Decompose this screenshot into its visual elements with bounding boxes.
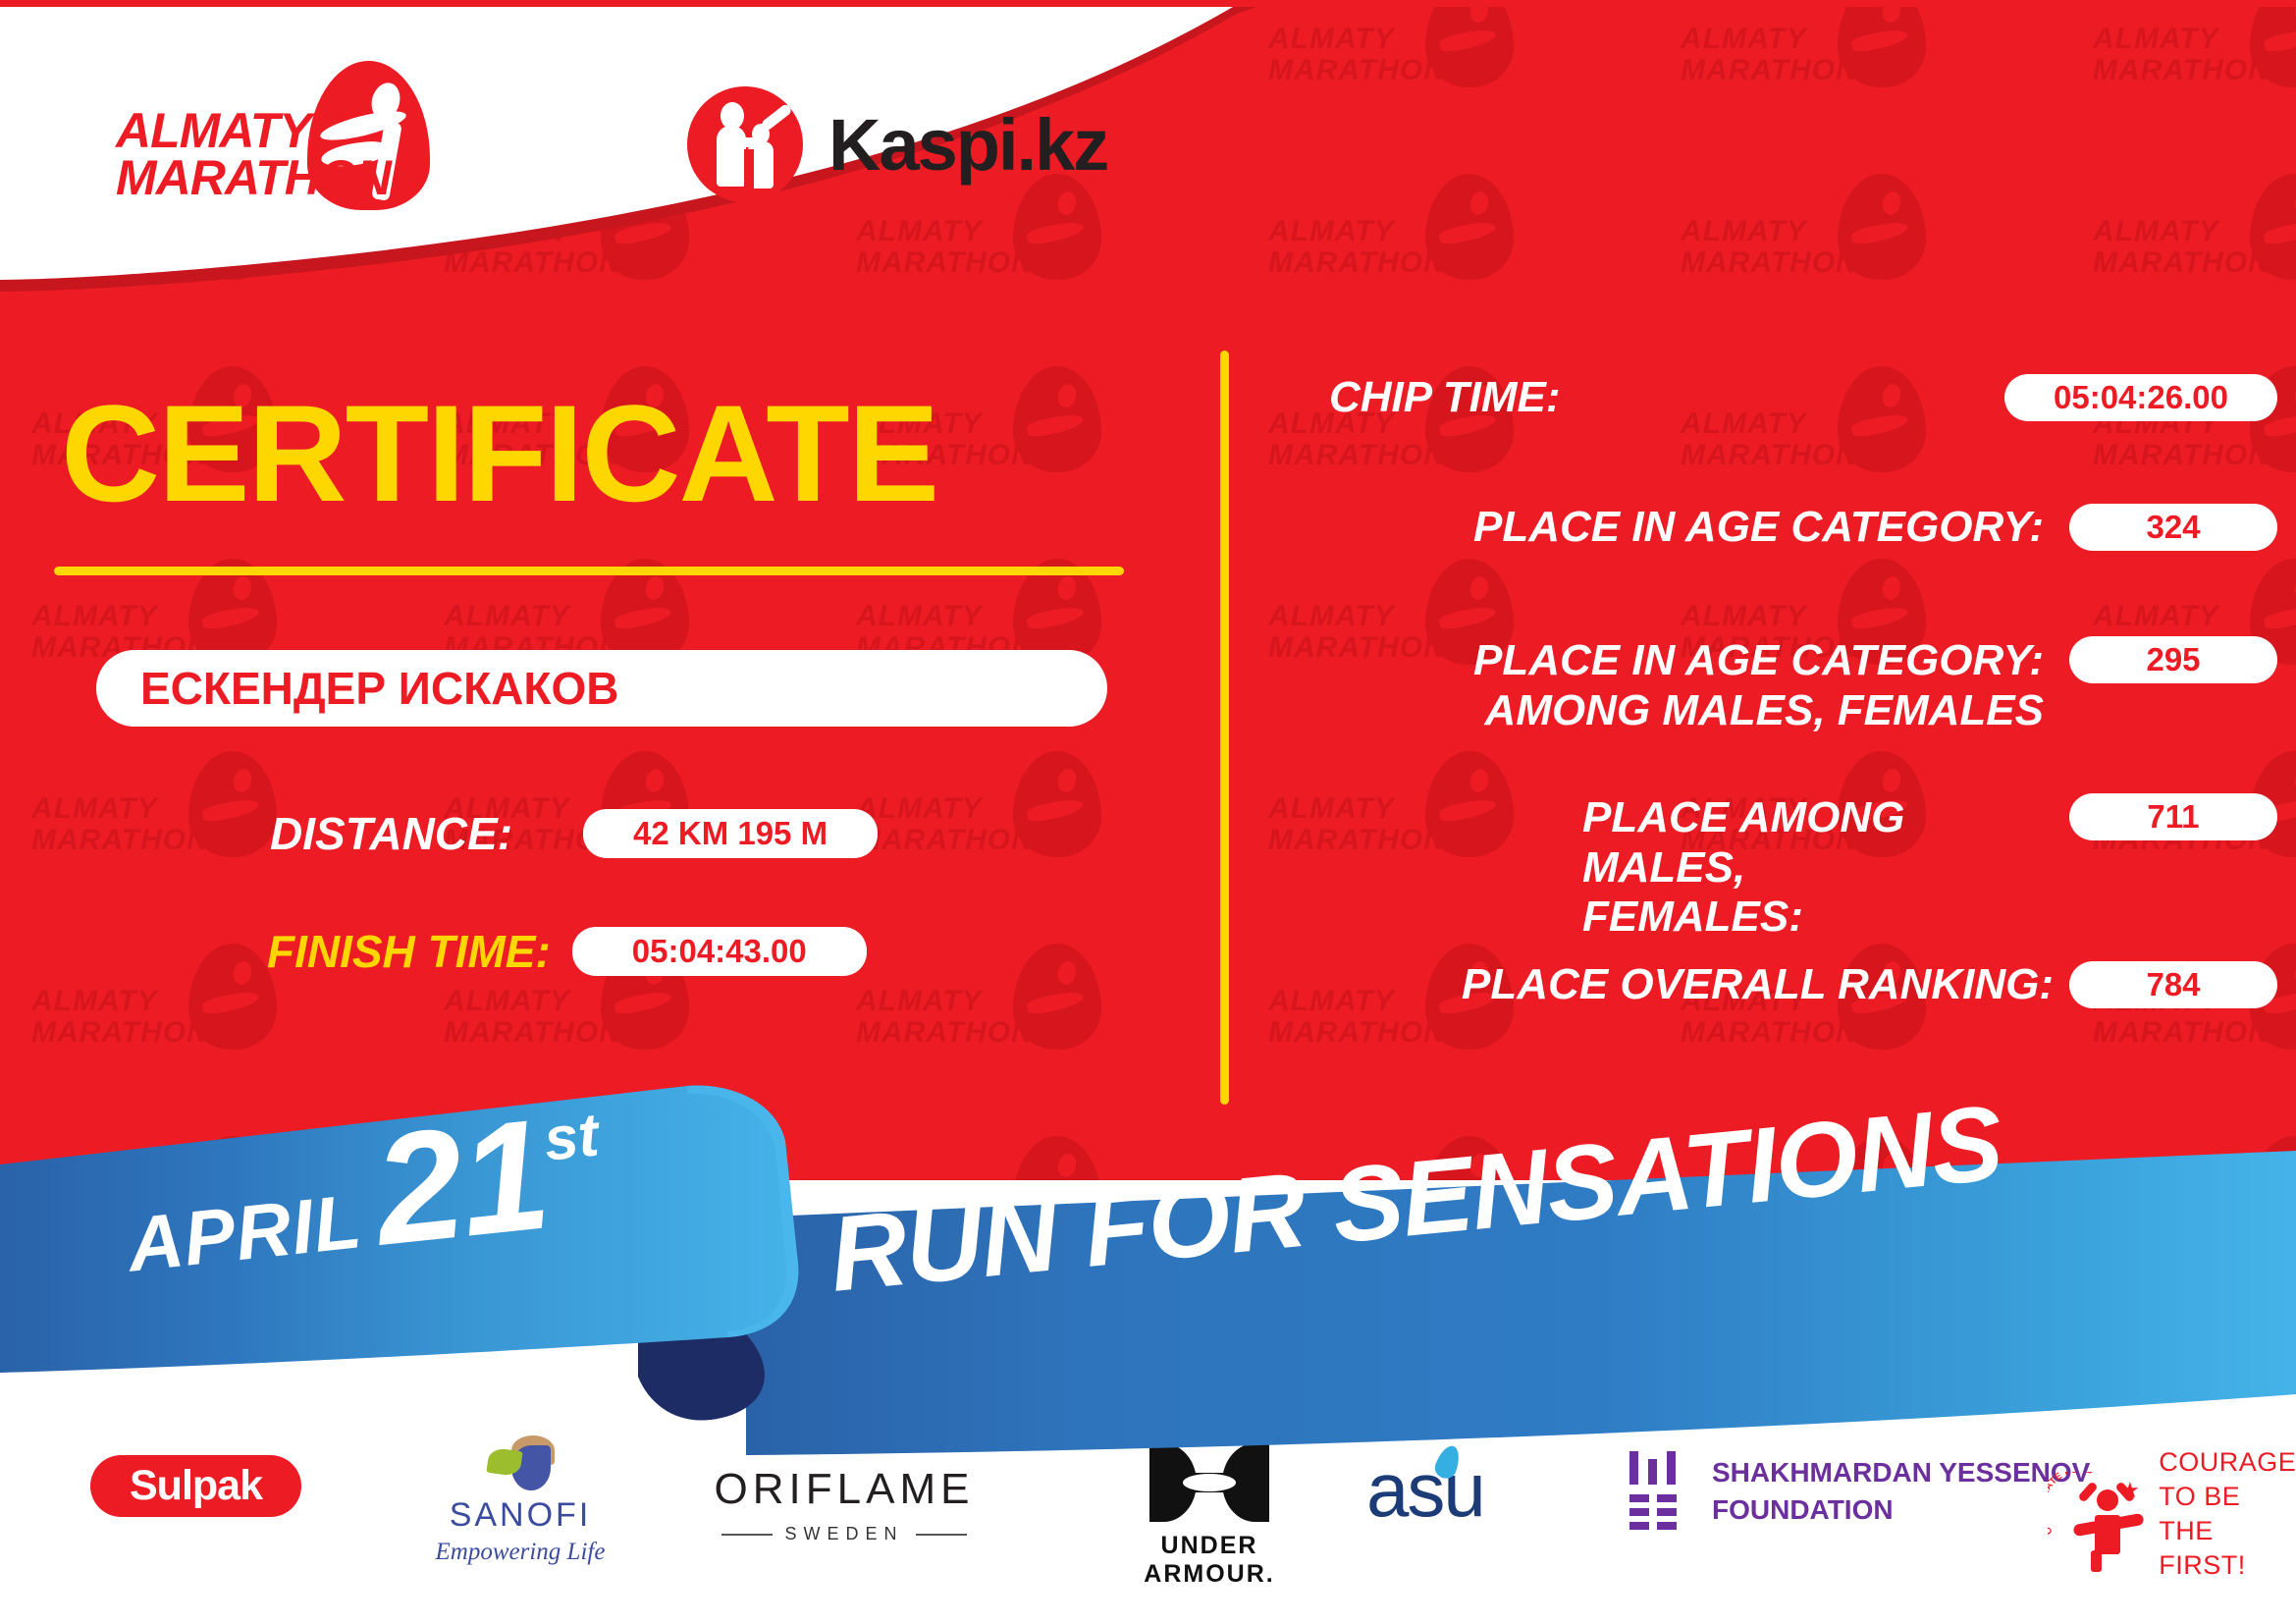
place-among-gender-label: PLACE AMONG MALES, FEMALES: (1582, 793, 2044, 943)
place-among-gender-value: 711 (2069, 793, 2277, 840)
certificate-page: ALMATYMARATHONALMATYMARATHONALMATYMARATH… (0, 0, 2296, 1624)
watermark-line1: ALMATY (2093, 215, 2219, 248)
watermark-line2: MARATHON (2093, 1016, 2270, 1050)
chip-time-value: 05:04:26.00 (2004, 374, 2277, 421)
place-age-category-label: PLACE IN AGE CATEGORY: (1473, 503, 2044, 553)
place-age-category-value: 324 (2069, 504, 2277, 551)
place-overall-row: PLACE OVERALL RANKING: 784 (1329, 960, 2277, 1010)
courage-line3: THE FIRST! (2159, 1514, 2296, 1583)
watermark-line1: ALMATY (856, 985, 983, 1018)
kaspi-wordmark: Kaspi.kz (828, 103, 1107, 187)
watermark-line1: ALMATY (444, 600, 570, 633)
participant-name-field: ЕСКЕНДЕР ИСКАКОВ (96, 650, 1107, 727)
watermark-drop-icon (1838, 7, 1926, 87)
watermark-line1: ALMATY (1681, 23, 1807, 56)
page-title: CERTIFICATE (61, 385, 937, 522)
kaspi-people-icon (687, 86, 803, 202)
place-among-gender-row: PLACE AMONG MALES, FEMALES: 711 (1329, 793, 2277, 943)
watermark-line1: ALMATY (856, 600, 983, 633)
distance-row: DISTANCE: 42 KM 195 M (270, 807, 878, 860)
place-age-category-gender-label: PLACE IN AGE CATEGORY: AMONG MALES, FEMA… (1473, 636, 2044, 735)
place-overall-label: PLACE OVERALL RANKING: (1462, 960, 2054, 1010)
watermark-line2: MARATHON (1681, 246, 1858, 280)
watermark-tile: ALMATYMARATHON (2002, 160, 2296, 352)
watermark-tile: ALMATYMARATHON (1590, 7, 2002, 160)
place-age-category-gender-value: 295 (2069, 636, 2277, 683)
watermark-line2: MARATHON (31, 824, 209, 857)
watermark-line1: ALMATY (1681, 215, 1807, 248)
watermark-line2: MARATHON (1268, 1016, 1446, 1050)
oriflame-rule-left (721, 1534, 773, 1536)
watermark-drop-icon (1013, 944, 1101, 1050)
watermark-line1: ALMATY (2093, 600, 2219, 633)
watermark-line1: ALMATY (31, 985, 158, 1018)
watermark-drop-icon (1838, 174, 1926, 280)
kaspi-logo: Kaspi.kz (687, 86, 1107, 202)
watermark-tile: ALMATYMARATHON (2002, 7, 2296, 160)
watermark-line2: MARATHON (1681, 439, 1858, 472)
watermark-tile: ALMATYMARATHON (1590, 160, 2002, 352)
watermark-line1: ALMATY (1268, 600, 1395, 633)
watermark-line2: MARATHON (444, 1016, 621, 1050)
place-overall-value: 784 (2069, 961, 2277, 1008)
chip-time-label: CHIP TIME: (1329, 373, 1560, 423)
watermark-line1: ALMATY (2093, 23, 2219, 56)
sanofi-wordmark: SANOFI (407, 1496, 633, 1535)
place-age-category-gender-row: PLACE IN AGE CATEGORY: AMONG MALES, FEMA… (1329, 636, 2277, 735)
almaty-marathon-logo: ALMATY MARATHON (116, 61, 450, 218)
top-red-rule (0, 0, 2296, 7)
event-day-suffix: st (541, 1100, 602, 1174)
watermark-drop-icon (188, 944, 277, 1050)
watermark-line2: MARATHON (1681, 1016, 1858, 1050)
watermark-line2: MARATHON (31, 1016, 209, 1050)
watermark-line2: MARATHON (1268, 439, 1446, 472)
under-armour-wordmark: UNDER ARMOUR. (1092, 1532, 1327, 1589)
watermark-line1: ALMATY (444, 985, 570, 1018)
title-underline (54, 567, 1124, 575)
oriflame-sub: SWEDEN (702, 1524, 987, 1544)
place-age-category-row: PLACE IN AGE CATEGORY: 324 (1329, 503, 2277, 553)
sanofi-tagline: Empowering Life (407, 1539, 633, 1566)
distance-value: 42 KM 195 M (583, 809, 878, 858)
watermark-line1: ALMATY (31, 600, 158, 633)
watermark-line1: ALMATY (31, 792, 158, 826)
watermark-line1: ALMATY (1681, 600, 1807, 633)
oriflame-country: SWEDEN (784, 1524, 903, 1544)
watermark-line2: MARATHON (856, 824, 1034, 857)
watermark-line2: MARATHON (2093, 439, 2270, 472)
chip-time-row: CHIP TIME: 05:04:26.00 (1329, 373, 2277, 423)
participant-name-value: ЕСКЕНДЕР ИСКАКОВ (96, 662, 618, 715)
column-divider (1220, 351, 1229, 1105)
almaty-marathon-wordmark: ALMATY MARATHON (116, 108, 391, 201)
watermark-line2: MARATHON (1681, 54, 1858, 87)
watermark-drop-icon (1013, 366, 1101, 472)
oriflame-rule-right (916, 1534, 967, 1536)
yessenov-line2: FOUNDATION (1712, 1491, 2090, 1529)
watermark-line2: MARATHON (856, 1016, 1034, 1050)
watermark-drop-icon (1013, 751, 1101, 857)
marathon-line: MARATHON (116, 155, 391, 202)
watermark-drop-icon (188, 751, 277, 857)
watermark-line2: MARATHON (2093, 54, 2270, 87)
watermark-drop-icon (2250, 174, 2296, 280)
almaty-line: ALMATY (116, 108, 391, 155)
finish-time-label: FINISH TIME: (267, 925, 551, 978)
distance-label: DISTANCE: (270, 807, 512, 860)
finish-time-value: 05:04:43.00 (572, 927, 867, 976)
watermark-line2: MARATHON (2093, 246, 2270, 280)
watermark-drop-icon (2250, 7, 2296, 87)
event-day: 21 (369, 1110, 552, 1253)
finish-time-row: FINISH TIME: 05:04:43.00 (267, 925, 867, 978)
